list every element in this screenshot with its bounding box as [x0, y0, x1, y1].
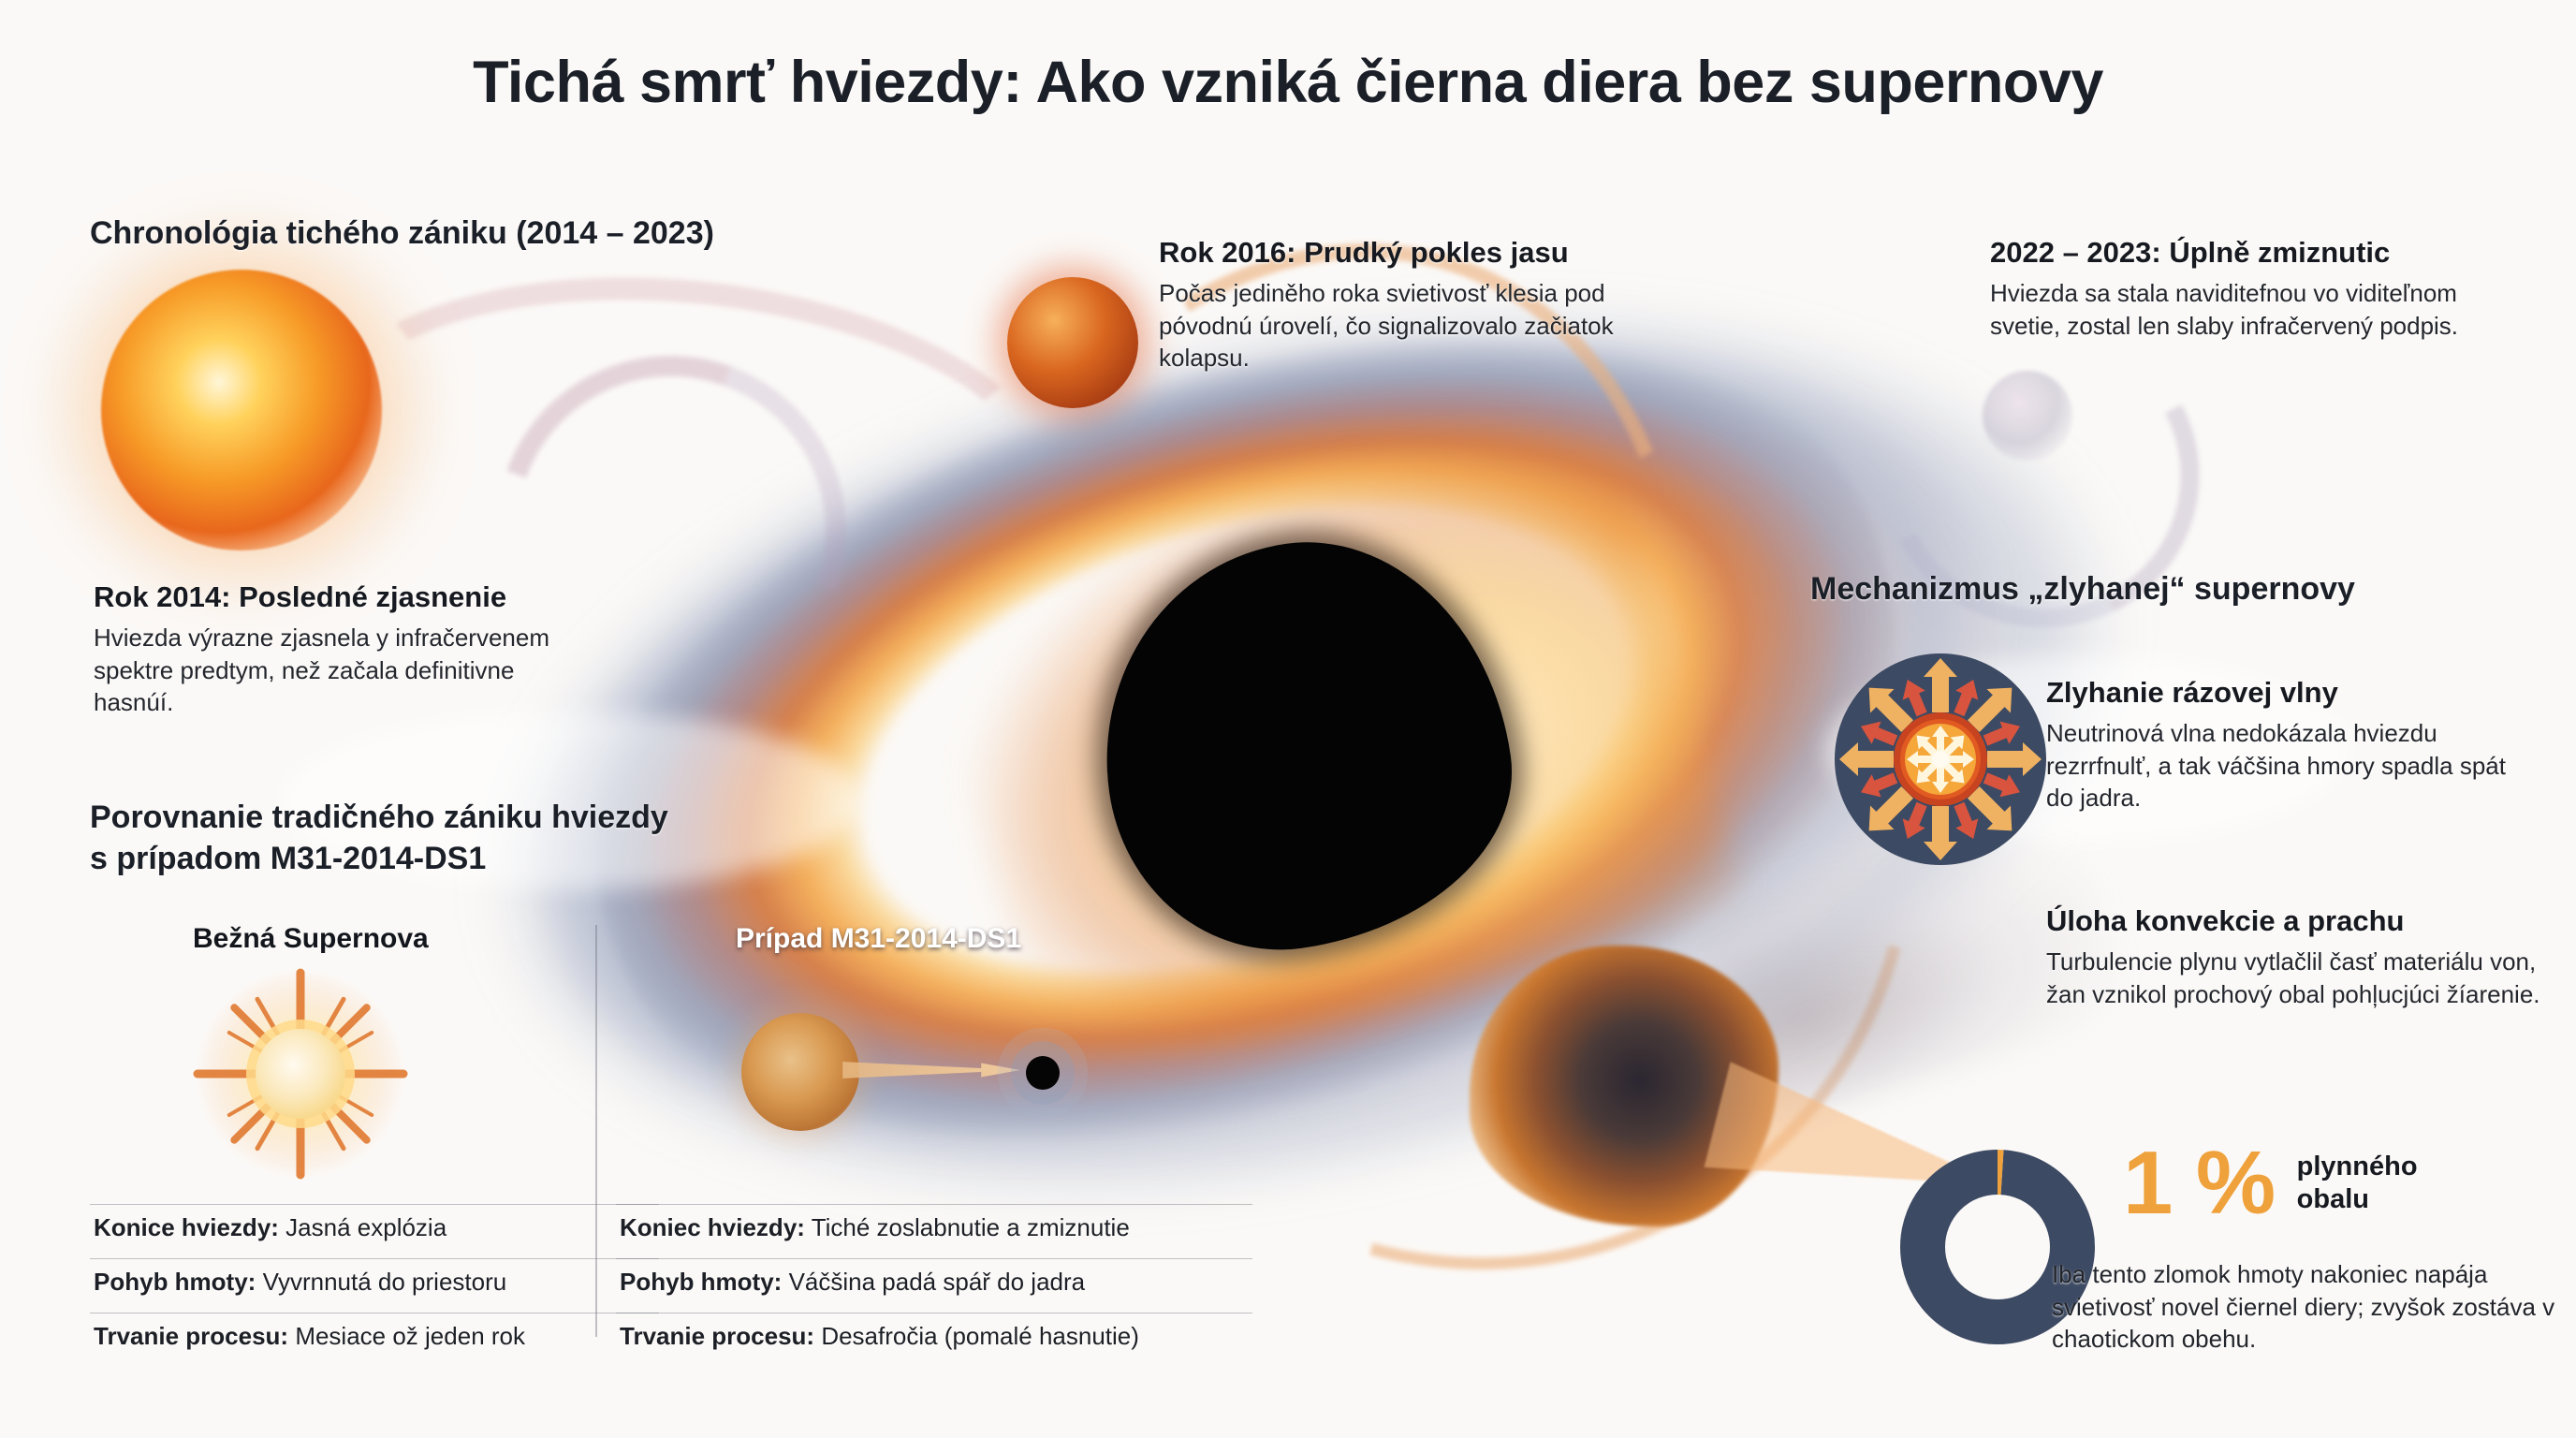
dust-shell-icon	[1470, 946, 1778, 1226]
timeline-item-2022-2023-body: Hviezda sa stala naviditefnou vo viditeľ…	[1990, 277, 2514, 342]
mechanism-item-shockwave-title: Zlyhanie rázovej vlny	[2046, 676, 2533, 710]
cell-left-1-label: Pohyb hmoty:	[94, 1268, 256, 1296]
bright-star-icon	[101, 270, 382, 550]
infographic-canvas: Tichá smrť hviezdy: Ako vzniká čierna di…	[0, 0, 2576, 1438]
stat-unit: %	[2196, 1140, 2277, 1225]
column-header-supernova: Bežná Supernova	[193, 923, 429, 955]
cell-right-2-value: Desafročia (pomalé hasnutie)	[821, 1322, 1139, 1350]
timeline-heading: Chronológia tichého zániku (2014 – 2023)	[90, 213, 714, 255]
fading-star-icon	[741, 1013, 859, 1131]
cell-right-0-value: Tiché zoslabnutie a zmiznutie	[812, 1213, 1130, 1241]
stat-label-line1: plynného	[2297, 1152, 2418, 1181]
stat-label-line2: obalu	[2297, 1184, 2369, 1214]
cell-right-1-label: Pohyb hmoty:	[620, 1268, 782, 1296]
stat-value: 1	[2123, 1140, 2174, 1225]
cell-right-1: Pohyb hmoty: Váčšina padá spář do jadra	[620, 1268, 1085, 1297]
supernova-burst-icon	[183, 966, 417, 1181]
cell-right-2-label: Trvanie procesu:	[620, 1322, 814, 1350]
table-row: Trvanie procesu: Mesiace ož jeden rok Tr…	[90, 1313, 1251, 1367]
mechanism-item-shockwave-body: Neutrinová vlna nedokázala hviezdu rezrr…	[2046, 717, 2533, 814]
cell-right-0: Koniec hviezdy: Tiché zoslabnutie a zmiz…	[620, 1213, 1130, 1242]
cell-left-0: Konice hviezdy: Jasná explózia	[94, 1213, 446, 1242]
vanished-star-icon	[1983, 371, 2072, 461]
stat-headline: 1 % plynného obalu	[2123, 1140, 2418, 1225]
mechanism-item-shockwave: Zlyhanie rázovej vlny Neutrinová vlna ne…	[2046, 676, 2533, 814]
mechanism-item-dust: Úloha konvekcie a prachu Turbulencie ply…	[2046, 904, 2552, 1010]
table-row: Pohyb hmoty: Vyvrnnutá do priestoru Pohy…	[90, 1258, 1251, 1313]
comparison-heading-line2: s prípadom M31-2014-DS1	[90, 841, 486, 876]
timeline-item-2014-body: Hviezda výrazne zjasnela y infračervenem…	[94, 622, 599, 719]
timeline-item-2014-title: Rok 2014: Posledné zjasnenie	[94, 580, 599, 614]
black-hole-icon	[1078, 517, 1533, 972]
stat-label: plynného obalu	[2297, 1151, 2418, 1214]
timeline-item-2022-2023-title: 2022 – 2023: Úplně zmiznutic	[1990, 236, 2514, 270]
cell-left-2-label: Trvanie procesu:	[94, 1322, 288, 1350]
timeline-item-2016-title: Rok 2016: Prudký pokles jasu	[1159, 236, 1664, 270]
mechanism-item-dust-body: Turbulencie plynu vytlačlil časť materiá…	[2046, 946, 2552, 1010]
mechanism-heading: Mechanizmus „zlyhanej“ supernovy	[1810, 569, 2355, 610]
cell-right-2: Trvanie procesu: Desafročia (pomalé hasn…	[620, 1322, 1139, 1351]
mass-flow-arrow-icon	[842, 1054, 1020, 1086]
accretion-glow	[915, 399, 1744, 1099]
cell-left-2-value: Mesiace ož jeden rok	[295, 1322, 525, 1350]
page-title: Tichá smrť hviezdy: Ako vzniká čierna di…	[0, 49, 2576, 116]
dimming-star-icon	[1007, 277, 1138, 408]
cell-left-1-value: Vyvrnnutá do priestoru	[263, 1268, 507, 1296]
cell-left-1: Pohyb hmoty: Vyvrnnutá do priestoru	[94, 1268, 506, 1297]
timeline-item-2016: Rok 2016: Prudký pokles jasu Počas jedin…	[1159, 236, 1664, 374]
shockwave-icon	[1833, 652, 2048, 867]
timeline-item-2022-2023: 2022 – 2023: Úplně zmiznutic Hviezda sa …	[1990, 236, 2514, 342]
cell-right-1-value: Váčšina padá spář do jadra	[789, 1268, 1086, 1296]
mechanism-item-dust-title: Úloha konvekcie a prachu	[2046, 904, 2552, 938]
comparison-heading: Porovnanie tradičného zániku hviezdy s p…	[90, 798, 801, 879]
cell-left-0-value: Jasná explózia	[285, 1213, 446, 1241]
timeline-item-2016-body: Počas jediněho roka svietivosť klesia po…	[1159, 277, 1664, 374]
comparison-table: Konice hviezdy: Jasná explózia Koniec hv…	[90, 1204, 1251, 1367]
small-black-hole-icon	[1026, 1056, 1060, 1090]
column-header-m31: Prípad M31-2014-DS1	[736, 923, 1021, 955]
table-row: Konice hviezdy: Jasná explózia Koniec hv…	[90, 1204, 1251, 1258]
stat-description: Iba tento zlomok hmoty nakoniec napája s…	[2052, 1258, 2576, 1356]
cell-right-0-label: Koniec hviezdy:	[620, 1213, 805, 1241]
cell-left-2: Trvanie procesu: Mesiace ož jeden rok	[94, 1322, 525, 1351]
comparison-heading-line1: Porovnanie tradičného zániku hviezdy	[90, 800, 668, 835]
timeline-item-2014: Rok 2014: Posledné zjasnenie Hviezda výr…	[94, 580, 599, 719]
cell-left-0-label: Konice hviezdy:	[94, 1213, 279, 1241]
